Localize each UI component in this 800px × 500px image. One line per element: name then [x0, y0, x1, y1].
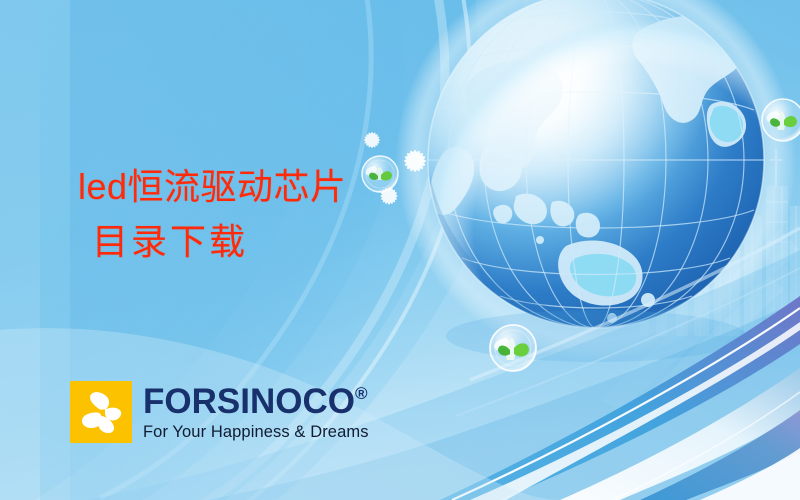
logo-tagline: For Your Happiness & Dreams: [143, 424, 369, 441]
slide-canvas: led恒流驱动芯片 目录下载 FORSINOCO: [0, 0, 800, 500]
company-logo: FORSINOCO ® For Your Happiness & Dreams: [70, 381, 369, 443]
bubble-icon: [762, 99, 800, 141]
logo-wordmark: FORSINOCO ® For Your Happiness & Dreams: [143, 384, 369, 441]
logo-company-name: FORSINOCO ®: [143, 384, 369, 419]
headline-line-1: led恒流驱动芯片: [78, 160, 438, 215]
headline-text-block: led恒流驱动芯片 目录下载: [78, 160, 438, 269]
logo-pinwheel-flower-icon: [70, 381, 132, 443]
registered-trademark-icon: ®: [355, 385, 368, 402]
headline-line-2: 目录下载: [78, 215, 438, 270]
logo-name-text: FORSINOCO: [143, 384, 355, 419]
bubble-icon: [490, 325, 536, 371]
